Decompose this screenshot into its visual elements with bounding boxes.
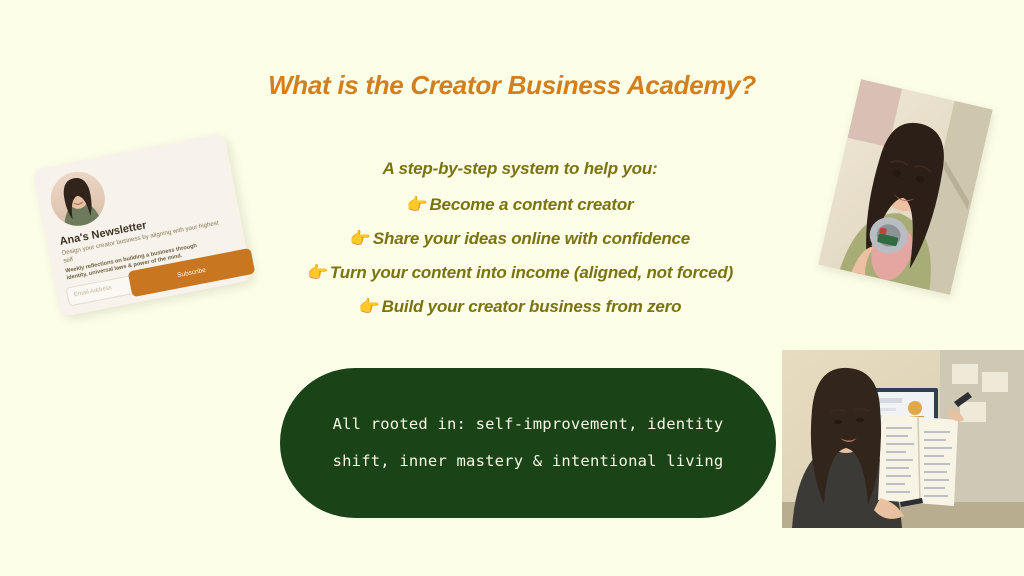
- list-item-label: Share your ideas online with confidence: [373, 229, 690, 248]
- pointing-hand-icon: 👉: [350, 229, 371, 248]
- pill-line-2: shift, inner mastery & intentional livin…: [333, 454, 724, 470]
- creator-notebook-photo: [782, 350, 1024, 528]
- list-item: 👉Become a content creator: [220, 196, 820, 213]
- creator-microphone-photo: [818, 79, 992, 294]
- benefits-list: A step-by-step system to help you: 👉Beco…: [220, 160, 820, 332]
- pill-line-1: All rooted in: self-improvement, identit…: [333, 417, 724, 433]
- pointing-hand-icon: 👉: [407, 195, 428, 214]
- subscribe-button-label: Subscribe: [177, 266, 207, 278]
- list-item: 👉Share your ideas online with confidence: [220, 230, 820, 247]
- list-item: 👉Turn your content into income (aligned,…: [220, 264, 820, 281]
- list-item: 👉Build your creator business from zero: [220, 298, 820, 315]
- slide-canvas: What is the Creator Business Academy? A …: [0, 0, 1024, 576]
- pointing-hand-icon: 👉: [359, 297, 380, 316]
- foundation-callout-pill: All rooted in: self-improvement, identit…: [280, 368, 776, 518]
- benefits-lead-line: A step-by-step system to help you:: [220, 160, 820, 177]
- pointing-hand-icon: 👉: [307, 263, 328, 282]
- list-item-label: Turn your content into income (aligned, …: [330, 263, 733, 282]
- list-item-label: Build your creator business from zero: [382, 297, 682, 316]
- email-field-placeholder: Email Address: [74, 285, 113, 298]
- list-item-label: Become a content creator: [429, 195, 633, 214]
- avatar: [46, 167, 109, 230]
